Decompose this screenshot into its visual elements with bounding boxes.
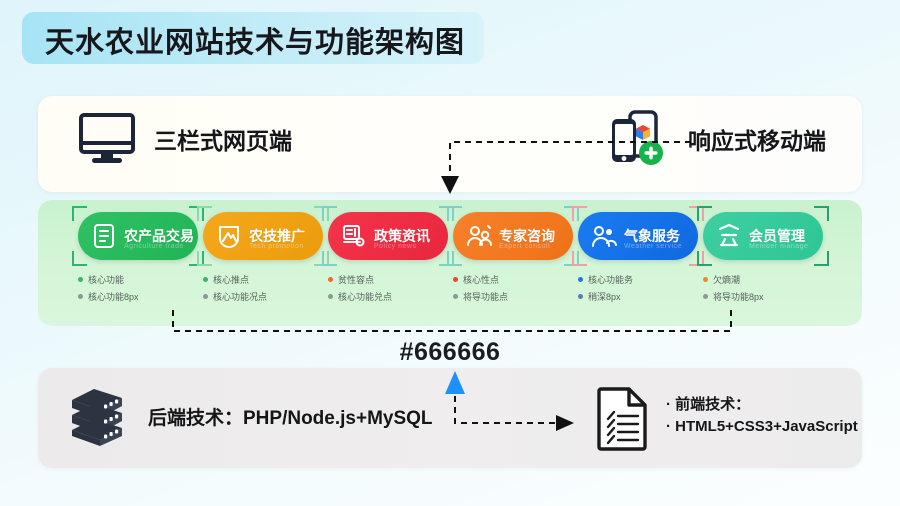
feature-bullet: 核心推点 — [203, 273, 323, 286]
bullet-dot-icon — [78, 277, 83, 282]
feature-bullet: 稍深8px — [578, 290, 698, 303]
corner-bracket-br — [814, 251, 829, 266]
bullet-dot-icon — [703, 294, 708, 299]
frontend-tech-item[interactable]: · 前端技术： · HTML5+CSS3+JavaScript — [596, 386, 858, 450]
bullet-label: 核心功能8px — [88, 290, 139, 303]
backend-tech-label: 后端技术：PHP/Node.js+MySQL — [148, 403, 433, 430]
corner-bracket-bl — [322, 251, 337, 266]
feature-pill[interactable]: 专家咨询Expert consult — [453, 212, 573, 260]
feature-pill-subtext: Expert consult — [499, 243, 550, 250]
experts-icon — [466, 223, 492, 249]
web-client-item[interactable]: 三栏式网页端 — [78, 112, 292, 166]
mobile-client-item[interactable]: 响应式移动端 — [608, 108, 826, 170]
feature-bullet-list: 贫性容点核心功能兑点 — [328, 273, 448, 303]
bullet-dot-icon — [703, 277, 708, 282]
feature-bullet: 核心功能况点 — [203, 290, 323, 303]
feature-pill[interactable]: 气象服务Weather service — [578, 212, 698, 260]
bullet-dot-icon — [328, 277, 333, 282]
feature-pill[interactable]: 农技推广Tech promotion — [203, 212, 323, 260]
bullet-label: 稍深8px — [588, 290, 621, 303]
bullet-dot-icon — [453, 277, 458, 282]
feature-bullet: 将导功能点 — [453, 290, 573, 303]
document-file-icon — [596, 386, 650, 450]
bullet-label: 核心功能兑点 — [338, 290, 392, 303]
bullet-dot-icon — [78, 294, 83, 299]
feature-item: 农技推广Tech promotion核心推点核心功能况点 — [203, 212, 323, 307]
feature-bullet: 核心功能8px — [78, 290, 198, 303]
corner-bracket-bl — [447, 251, 462, 266]
corner-bracket-tr — [814, 206, 829, 221]
corner-bracket-bl — [197, 251, 212, 266]
tech-promo-icon — [216, 223, 242, 249]
feature-bullet: 核心性点 — [453, 273, 573, 286]
feature-pill-subtext: Policy news — [374, 243, 416, 250]
corner-bracket-bl — [697, 251, 712, 266]
member-management-icon — [716, 223, 742, 249]
mobile-client-label: 响应式移动端 — [688, 122, 826, 156]
server-stack-icon — [66, 386, 128, 446]
bullet-label: 贫性容点 — [338, 273, 374, 286]
feature-item: 会员管理Member manage欠熵潮将导功能8px — [703, 212, 823, 307]
feature-bullet-list: 核心推点核心功能况点 — [203, 273, 323, 303]
corner-bracket-tl — [322, 206, 337, 221]
corner-bracket-bl — [572, 251, 587, 266]
bullet-dot-icon — [578, 294, 583, 299]
feature-pill-subtext: Agriculture trade — [124, 243, 184, 250]
feature-item: 专家咨询Expert consult核心性点将导功能点 — [453, 212, 573, 307]
feature-item: 农产品交易Agriculture trade核心功能核心功能8px — [78, 212, 198, 307]
backend-tech-item[interactable]: 后端技术：PHP/Node.js+MySQL — [66, 386, 433, 446]
feature-pill-subtext: Member manage — [749, 243, 808, 250]
feature-pill[interactable]: 会员管理Member manage — [703, 212, 823, 260]
bullet-label: 欠熵潮 — [713, 273, 740, 286]
weather-service-icon — [591, 223, 617, 249]
frontend-line-2: · HTML5+CSS3+JavaScript — [666, 416, 858, 438]
feature-bullet-list: 欠熵潮将导功能8px — [703, 273, 823, 303]
corner-bracket-tl — [572, 206, 587, 221]
corner-bracket-bl — [72, 251, 87, 266]
feature-bullet: 核心功能务 — [578, 273, 698, 286]
feature-bullet-list: 核心性点将导功能点 — [453, 273, 573, 303]
feature-bullet-list: 核心功能务稍深8px — [578, 273, 698, 303]
feature-bullet: 将导功能8px — [703, 290, 823, 303]
bullet-dot-icon — [203, 294, 208, 299]
corner-bracket-tl — [72, 206, 87, 221]
frontend-line-1: · 前端技术： — [666, 394, 858, 416]
monitor-icon — [78, 112, 136, 166]
feature-item: 政策资讯Policy news贫性容点核心功能兑点 — [328, 212, 448, 307]
bullet-dot-icon — [203, 277, 208, 282]
architecture-diagram: 天水农业网站技术与功能架构图 三栏式网页端 — [0, 0, 900, 506]
bullet-dot-icon — [328, 294, 333, 299]
feature-pill-subtext: Tech promotion — [249, 243, 304, 250]
feature-pill-subtext: Weather service — [624, 243, 682, 250]
corner-bracket-tl — [197, 206, 212, 221]
bullet-label: 核心性点 — [463, 273, 499, 286]
bullet-dot-icon — [453, 294, 458, 299]
bullet-label: 将导功能点 — [463, 290, 508, 303]
bullet-label: 将导功能8px — [713, 290, 764, 303]
feature-pill[interactable]: 政策资讯Policy news — [328, 212, 448, 260]
feature-bullet-list: 核心功能核心功能8px — [78, 273, 198, 303]
frontend-tech-lines: · 前端技术： · HTML5+CSS3+JavaScript — [666, 394, 858, 438]
corner-bracket-tl — [447, 206, 462, 221]
feature-item: 气象服务Weather service核心功能务稍深8px — [578, 212, 698, 307]
policy-news-icon — [341, 223, 367, 249]
bullet-label: 核心功能况点 — [213, 290, 267, 303]
feature-bullet: 核心功能兑点 — [328, 290, 448, 303]
feature-bullet: 核心功能 — [78, 273, 198, 286]
feature-pill[interactable]: 农产品交易Agriculture trade — [78, 212, 198, 260]
feature-bullet: 欠熵潮 — [703, 273, 823, 286]
web-client-label: 三栏式网页端 — [154, 122, 292, 156]
bullet-label: 核心推点 — [213, 273, 249, 286]
bullet-label: 核心功能务 — [588, 273, 633, 286]
feature-bullet: 贫性容点 — [328, 273, 448, 286]
mobile-devices-icon — [608, 108, 670, 170]
corner-bracket-tl — [697, 206, 712, 221]
hex-color-label: #666666 — [0, 338, 900, 367]
document-icon — [91, 223, 117, 249]
bullet-label: 核心功能 — [88, 273, 124, 286]
bullet-dot-icon — [578, 277, 583, 282]
page-title: 天水农业网站技术与功能架构图 — [45, 19, 465, 61]
